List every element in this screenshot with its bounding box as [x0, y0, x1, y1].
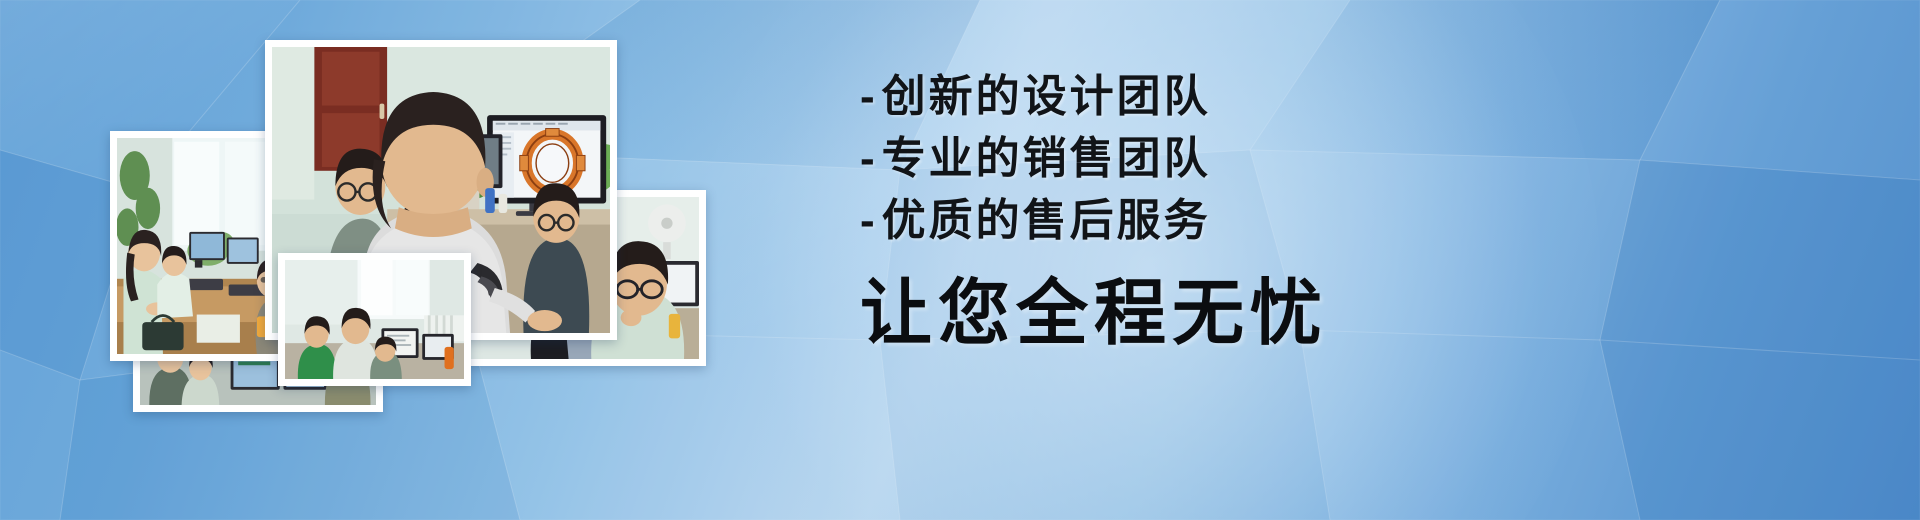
bullet-item-2: -专业的销售团队: [860, 128, 1560, 190]
bullet-item-1: -创新的设计团队: [860, 66, 1560, 128]
promo-banner: -创新的设计团队 -专业的销售团队 -优质的售后服务 让您全程无忧: [0, 0, 1920, 520]
bullet-dash: -: [860, 190, 878, 252]
photo-team-desks: [278, 253, 471, 386]
bullet-dash: -: [860, 128, 878, 190]
bullet-text: 优质的售后服务: [882, 196, 1211, 245]
banner-copy: -创新的设计团队 -专业的销售团队 -优质的售后服务 让您全程无忧: [860, 66, 1560, 466]
banner-headline: 让您全程无忧: [860, 270, 1560, 358]
bullet-text: 创新的设计团队: [882, 72, 1211, 121]
photo-collage: [0, 0, 760, 520]
bullet-list: -创新的设计团队 -专业的销售团队 -优质的售后服务: [860, 66, 1560, 252]
bullet-item-3: -优质的售后服务: [860, 190, 1560, 252]
bullet-text: 专业的销售团队: [882, 134, 1211, 183]
bullet-dash: -: [860, 66, 878, 128]
